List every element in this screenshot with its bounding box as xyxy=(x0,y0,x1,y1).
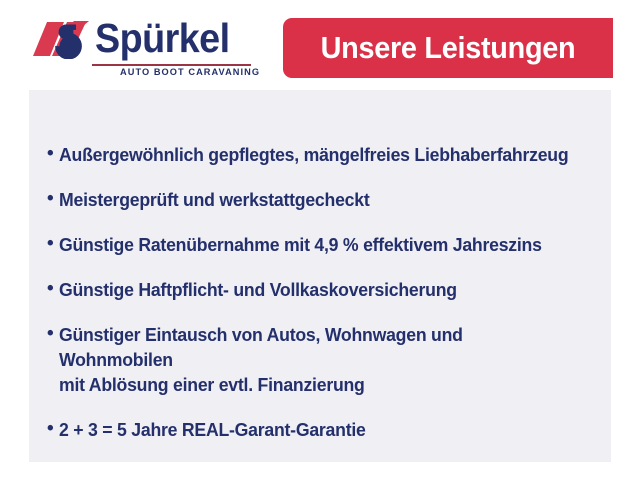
list-item-label: Günstige Haftpflicht- und Vollkaskoversi… xyxy=(59,277,575,302)
header: Spürkel AUTO BOOT CARAVANING Unsere Leis… xyxy=(0,0,640,90)
services-list: • Außergewöhnlich gepflegtes, mängelfrei… xyxy=(47,142,599,442)
brand-wordmark: Spürkel xyxy=(95,12,229,64)
headline-banner-title: Unsere Leistungen xyxy=(321,32,576,65)
bullet-dot-icon: • xyxy=(47,142,59,166)
headline-banner: Unsere Leistungen xyxy=(283,18,613,78)
logo-divider-rule xyxy=(92,64,251,66)
brand-tagline: AUTO BOOT CARAVANING xyxy=(120,67,260,78)
spuerkel-logo-mark-icon xyxy=(33,19,95,59)
list-item: • Außergewöhnlich gepflegtes, mängelfrei… xyxy=(47,142,599,167)
bullet-dot-icon: • xyxy=(47,232,59,256)
list-item-label: Günstiger Eintausch von Autos, Wohnwagen… xyxy=(59,322,575,397)
list-item: • Günstige Haftpflicht- und Vollkaskover… xyxy=(47,277,599,302)
list-item-label: Außergewöhnlich gepflegtes, mängelfreies… xyxy=(59,142,575,167)
list-item: • Günstiger Eintausch von Autos, Wohnwag… xyxy=(47,322,599,397)
list-item: • Günstige Ratenübernahme mit 4,9 % effe… xyxy=(47,232,599,257)
brand-logo: Spürkel AUTO BOOT CARAVANING xyxy=(33,17,251,81)
list-item-label: Günstige Ratenübernahme mit 4,9 % effekt… xyxy=(59,232,575,257)
slide-root: Spürkel AUTO BOOT CARAVANING Unsere Leis… xyxy=(0,0,640,480)
bullet-dot-icon: • xyxy=(47,187,59,211)
bullet-dot-icon: • xyxy=(47,417,59,441)
services-panel: • Außergewöhnlich gepflegtes, mängelfrei… xyxy=(29,90,611,462)
list-item-label: 2 + 3 = 5 Jahre REAL-Garant-Garantie xyxy=(59,417,575,442)
bullet-dot-icon: • xyxy=(47,322,59,346)
bullet-dot-icon: • xyxy=(47,277,59,301)
list-item: • Meistergeprüft und werkstattgecheckt xyxy=(47,187,599,212)
list-item: • 2 + 3 = 5 Jahre REAL-Garant-Garantie xyxy=(47,417,599,442)
list-item-label: Meistergeprüft und werkstattgecheckt xyxy=(59,187,575,212)
